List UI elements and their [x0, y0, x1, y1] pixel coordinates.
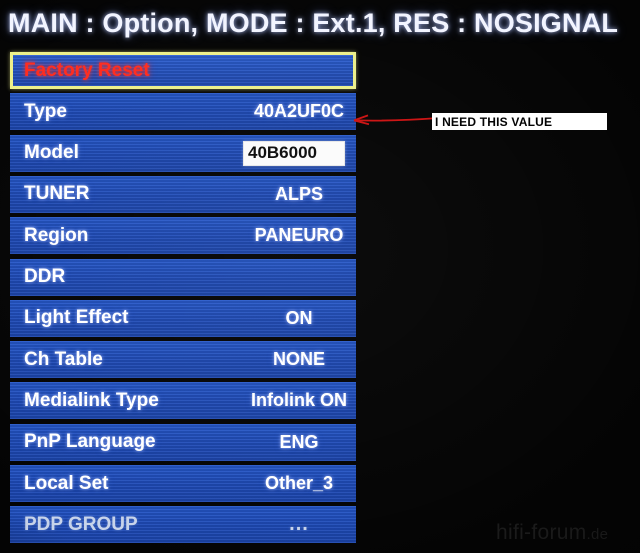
- menu-row-label: Factory Reset: [24, 60, 150, 82]
- menu-row-value[interactable]: Infolink ON: [240, 390, 356, 411]
- status-header-bar: MAIN : Option, MODE : Ext.1, RES : NOSIG…: [8, 2, 640, 44]
- menu-row-value-input-text: 40B6000: [244, 143, 317, 163]
- menu-row-value[interactable]: ENG: [240, 432, 356, 453]
- menu-row-label: PDP GROUP: [24, 514, 138, 536]
- menu-row-label: Medialink Type: [24, 390, 159, 412]
- menu-row-label: Type: [24, 101, 67, 123]
- menu-row[interactable]: PnP LanguageENG: [10, 424, 356, 461]
- menu-row-value-input[interactable]: 40B6000: [243, 141, 345, 166]
- site-watermark: hifi-forum.de: [496, 521, 608, 545]
- menu-row[interactable]: Light EffectON: [10, 300, 356, 337]
- annotation-callout-text: I NEED THIS VALUE: [432, 115, 552, 129]
- menu-row-value[interactable]: ...: [240, 513, 356, 536]
- menu-row-label: Light Effect: [24, 307, 129, 329]
- menu-row-label: DDR: [24, 266, 65, 288]
- menu-row[interactable]: Ch TableNONE: [10, 341, 356, 378]
- menu-row-value[interactable]: NONE: [240, 349, 356, 370]
- status-header-text: MAIN : Option, MODE : Ext.1, RES : NOSIG…: [8, 8, 618, 39]
- menu-row-label: TUNER: [24, 183, 89, 205]
- menu-row[interactable]: Type40A2UF0C: [10, 93, 356, 130]
- menu-row-label: Region: [24, 225, 88, 247]
- menu-row[interactable]: Model40B6000: [10, 135, 356, 172]
- menu-row[interactable]: Local SetOther_3: [10, 465, 356, 502]
- menu-row-value[interactable]: PANEURO: [240, 225, 356, 246]
- menu-row[interactable]: RegionPANEURO: [10, 217, 356, 254]
- menu-row-label: Ch Table: [24, 349, 103, 371]
- menu-row[interactable]: Medialink TypeInfolink ON: [10, 382, 356, 419]
- watermark-tld: .de: [587, 526, 609, 543]
- annotation-callout: I NEED THIS VALUE: [432, 113, 607, 130]
- menu-row-value[interactable]: 40A2UF0C: [240, 101, 356, 122]
- red-arrow-icon: [348, 108, 440, 130]
- menu-row[interactable]: PDP GROUP...: [10, 506, 356, 543]
- menu-row-label: Model: [24, 142, 79, 164]
- watermark-name: hifi-forum: [496, 521, 587, 544]
- menu-row-value[interactable]: Other_3: [240, 473, 356, 494]
- menu-row-value[interactable]: ALPS: [240, 184, 356, 205]
- menu-row[interactable]: TUNERALPS: [10, 176, 356, 213]
- menu-row-label: PnP Language: [24, 431, 156, 453]
- service-menu-panel: Factory ResetType40A2UF0CModel40B6000TUN…: [10, 52, 356, 550]
- menu-row[interactable]: DDR: [10, 259, 356, 296]
- menu-row-label: Local Set: [24, 473, 108, 495]
- menu-row-value[interactable]: ON: [240, 308, 356, 329]
- menu-row[interactable]: Factory Reset: [10, 52, 356, 89]
